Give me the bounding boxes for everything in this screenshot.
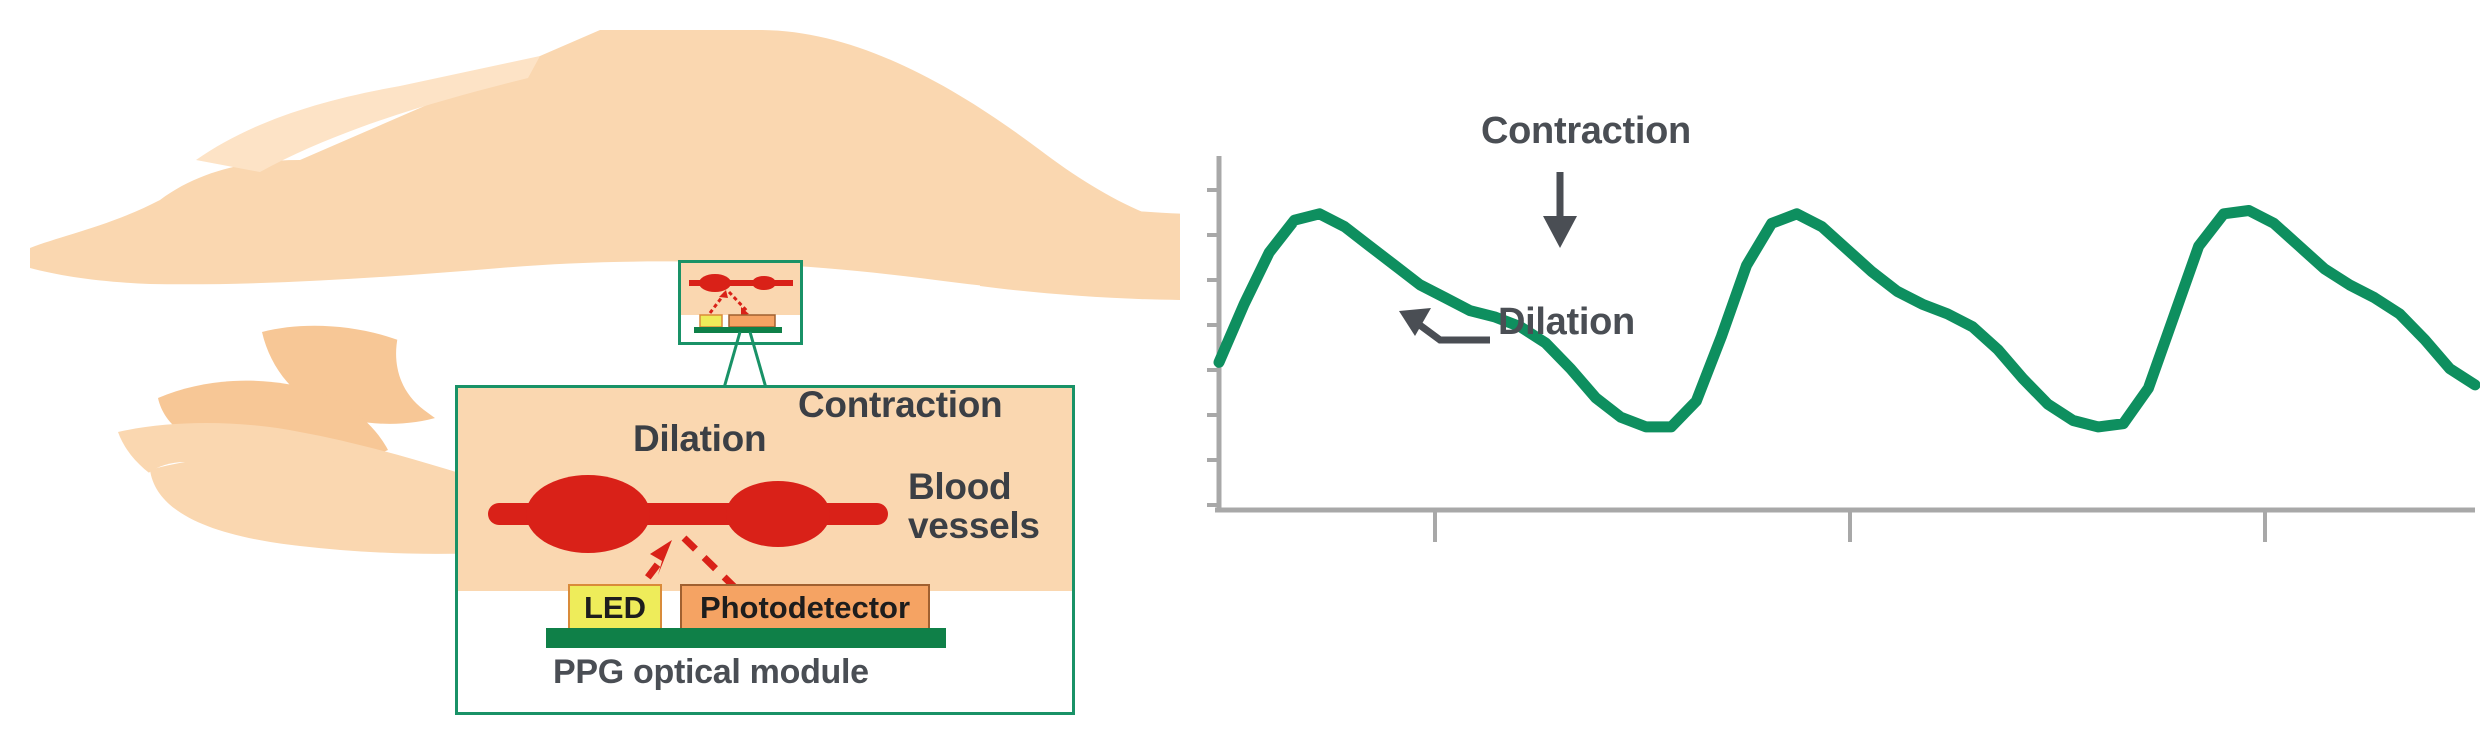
label-contraction: Contraction (798, 386, 1002, 425)
inset-vessel-dilation (699, 274, 731, 292)
x-axis-ticks (1435, 510, 2265, 542)
chart-annotation-dilation: Dilation (1498, 301, 1635, 344)
inset-detector-ray (729, 292, 747, 311)
inset-led-chip (700, 315, 722, 327)
chart-svg (1185, 80, 2480, 640)
inset-vessel-contraction (752, 276, 776, 290)
forearm-shape (980, 190, 1180, 300)
contraction-arrow-icon (1543, 172, 1577, 248)
chart-annotation-contraction: Contraction (1481, 110, 1691, 153)
figure-root: Dilation Contraction Blood vessels LED P… (0, 0, 2480, 730)
led-chip[interactable]: LED (568, 584, 662, 632)
connector-right-line (750, 332, 766, 388)
ppg-detail-box[interactable]: Dilation Contraction Blood vessels LED P… (455, 385, 1075, 715)
vessel-dilation-bulge (526, 475, 650, 553)
ppg-waveform-chart[interactable]: Contraction Dilation (1185, 80, 2480, 640)
label-dilation: Dilation (633, 420, 766, 459)
connector-left-line (724, 332, 740, 388)
label-ppg-optical-module: PPG optical module (553, 655, 869, 691)
label-blood-vessels: Blood vessels (908, 468, 1040, 546)
pcb-substrate-bar (546, 628, 946, 648)
inset-photodetector-chip (729, 315, 775, 327)
vessel-contraction-bulge (726, 481, 830, 547)
photodetector-chip[interactable]: Photodetector (680, 584, 930, 632)
